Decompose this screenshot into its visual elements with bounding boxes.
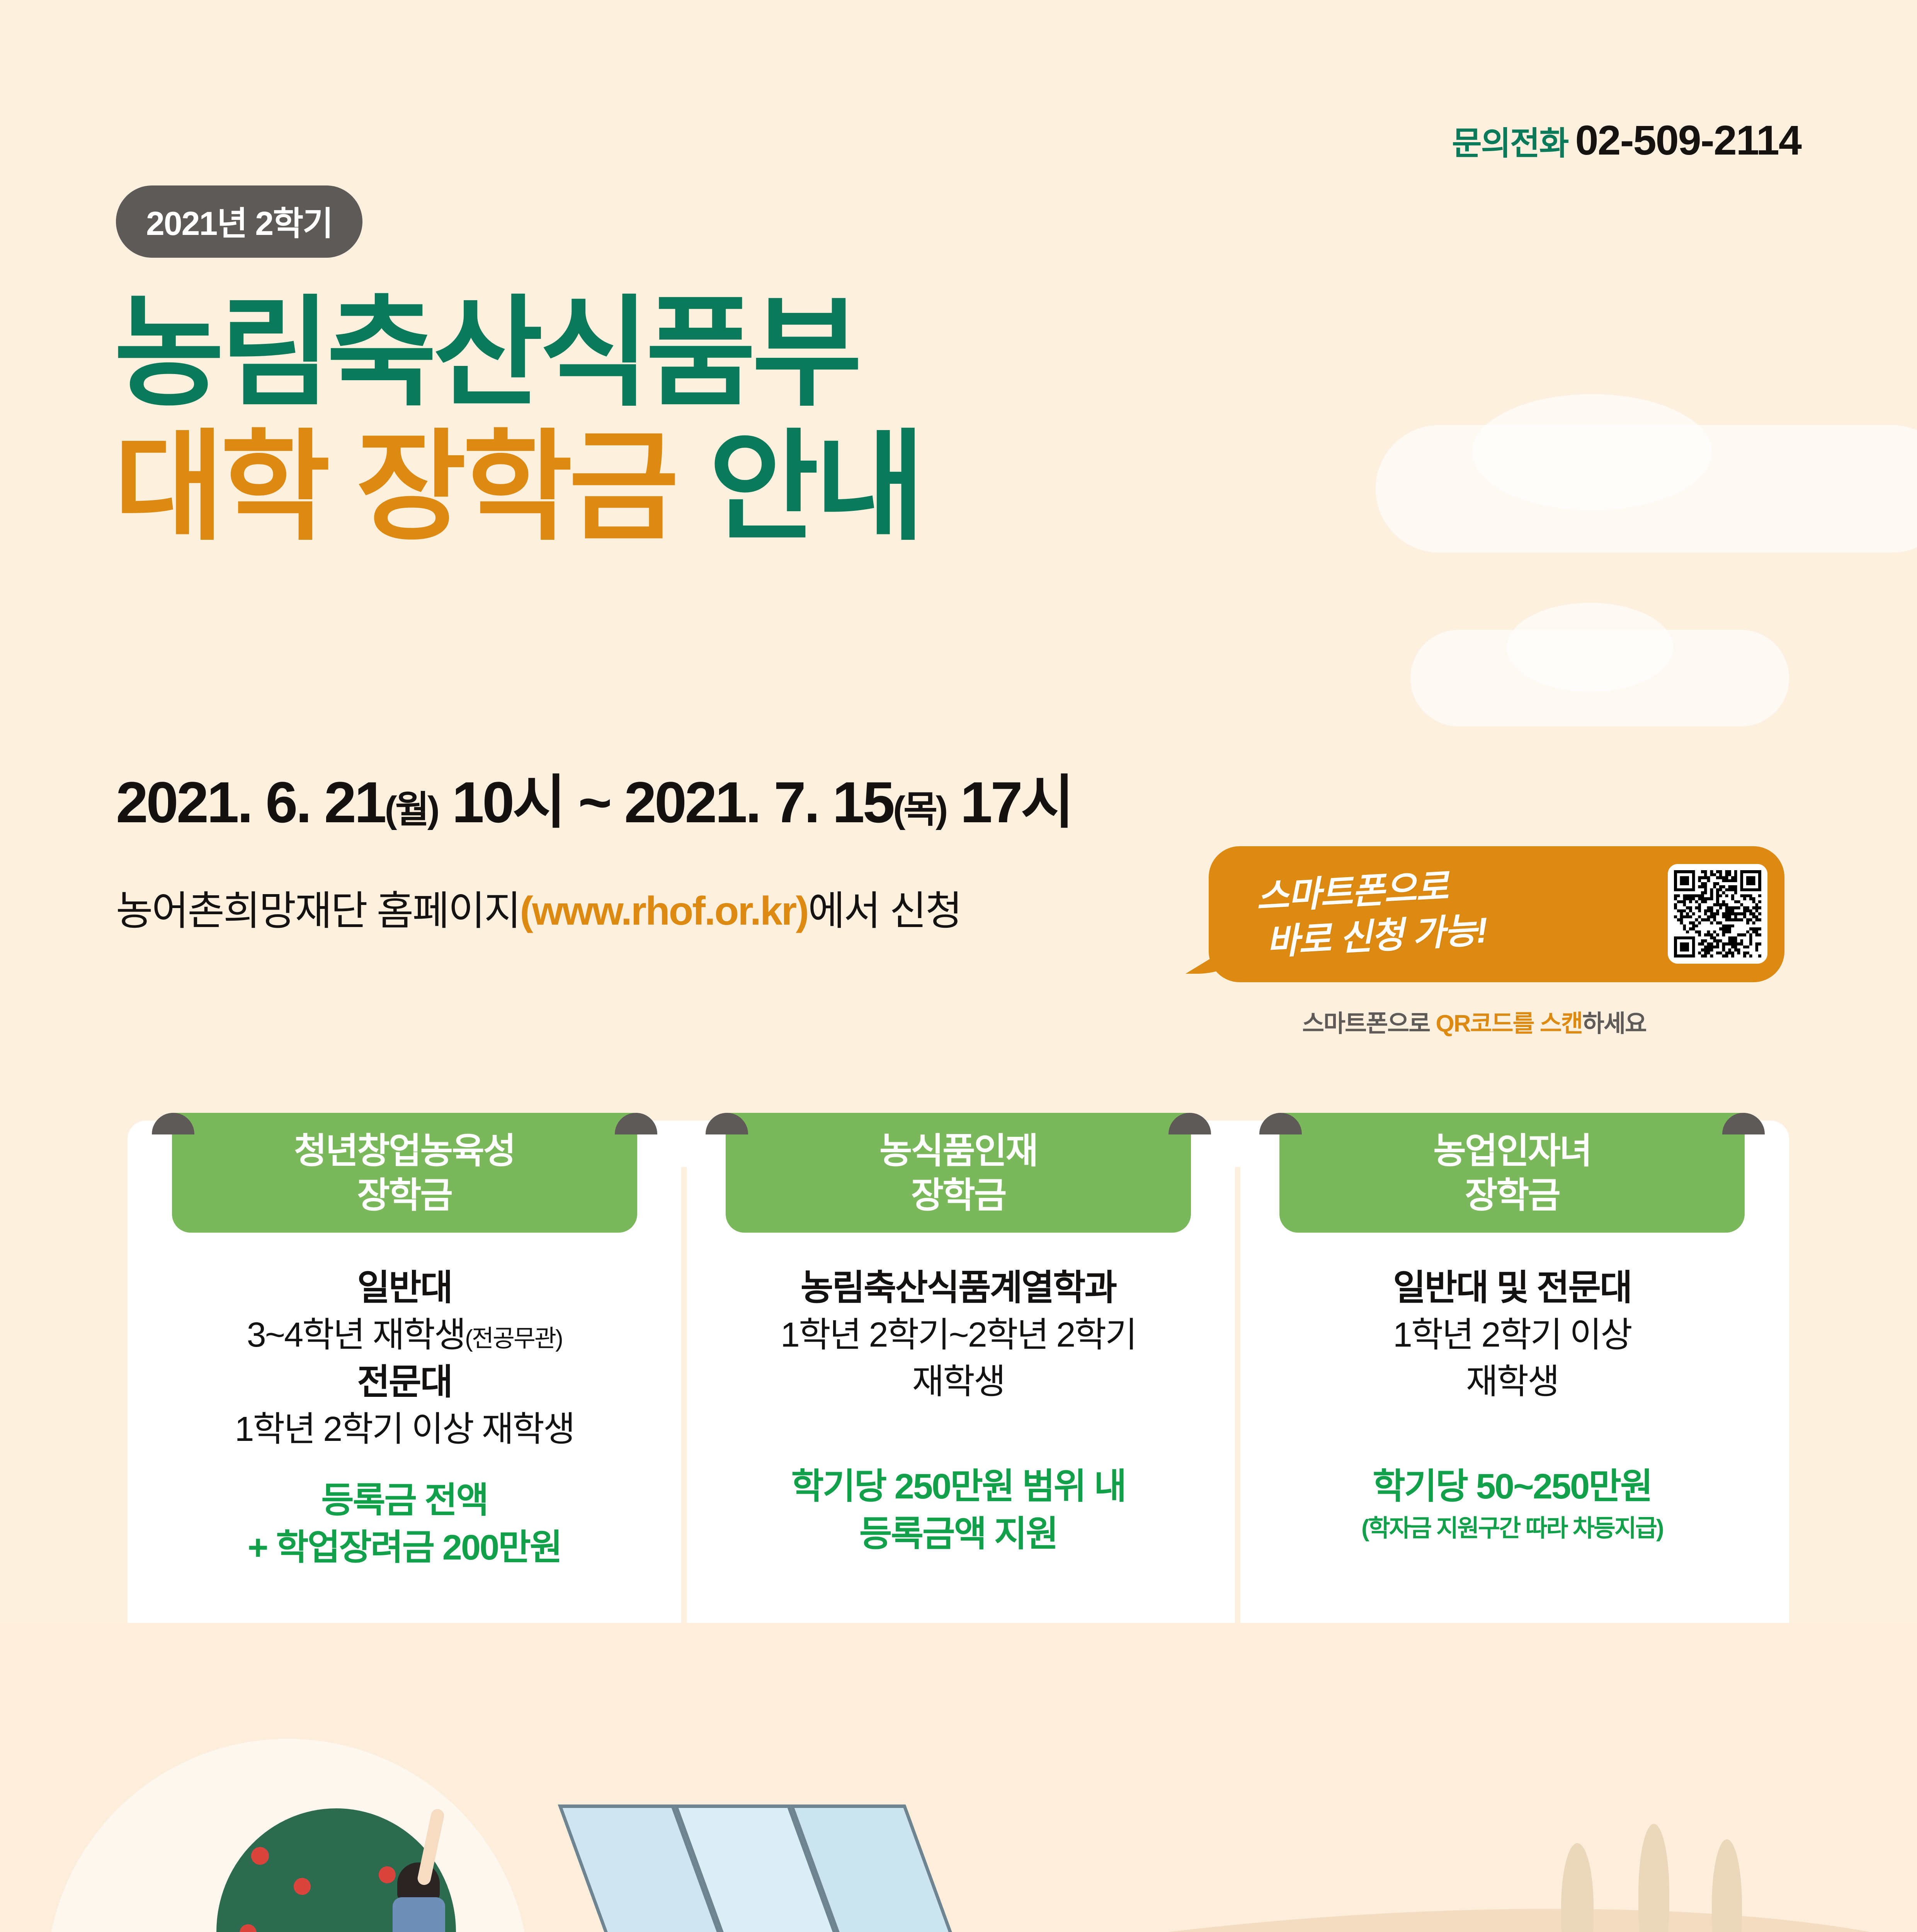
poster-root: 문의전화 02-509-2114 2021년 2학기 농림축산식품부 대학 장학…	[0, 0, 1917, 1932]
application-period: 2021. 6. 21(월) 10시 ~ 2021. 7. 15(목) 17시	[116, 755, 1072, 839]
card-body-2: 일반대 및 전문대 1학년 2학기 이상 재학생 학기당 50~250만원 (학…	[1235, 1233, 1789, 1544]
bubble-text: 스마트폰으로 바로 신청 가능!	[1255, 862, 1488, 966]
ribbon-tab-left-icon	[1259, 1113, 1302, 1134]
card-title-line1-0: 청년창업농육성	[176, 1129, 633, 1173]
card-header-1: 농식품인재 장학금	[726, 1113, 1191, 1233]
amount-line: 등록금 전액	[143, 1477, 666, 1524]
bubble-line-2: 바로 신청 가능!	[1265, 908, 1488, 965]
ribbon-tab-right-icon	[615, 1113, 657, 1134]
period-start-date: 2021. 6. 21	[116, 770, 385, 835]
apply-suffix: 에서 신청	[808, 889, 961, 934]
ribbon-tab-left-icon	[706, 1113, 748, 1134]
apply-url[interactable]: (www.rhof.or.kr)	[520, 889, 808, 934]
card-title-line2-2: 장학금	[1283, 1173, 1741, 1218]
amount-note: (학자금 지원구간 따라 차등지급)	[1251, 1513, 1774, 1544]
card-title-line1-1: 농식품인재	[730, 1129, 1187, 1173]
amount-line: 학기당 50~250만원	[1251, 1463, 1774, 1510]
qr-caption-highlight: QR코드를 스캔	[1436, 1010, 1582, 1037]
title-line-1: 농림축산식품부	[114, 286, 921, 420]
card-body-row: 전문대	[143, 1359, 666, 1406]
ribbon-tab-right-icon	[1722, 1113, 1765, 1134]
contact-number: 02-509-2114	[1575, 116, 1801, 164]
farmer-on-ladder	[379, 1862, 479, 1932]
card-header-2: 농업인자녀 장학금	[1279, 1113, 1745, 1233]
scholarship-card-1[interactable]: 농식품인재 장학금 농림축산식품계열학과 1학년 2학기~2학년 2학기 재학생…	[681, 1113, 1235, 1700]
card-body-row: 1학년 2학기 이상	[1251, 1312, 1774, 1359]
card-amount-2: 학기당 50~250만원 (학자금 지원구간 따라 차등지급)	[1251, 1463, 1774, 1544]
card-body-row: 농림축산식품계열학과	[697, 1264, 1220, 1312]
title-line-2-green: 안내	[709, 420, 921, 554]
card-body-row: 1학년 2학기~2학년 2학기	[697, 1312, 1220, 1359]
contact-label: 문의전화	[1452, 117, 1568, 164]
scholarship-columns: 청년창업농육성 장학금 일반대 3~4학년 재학생(전공무관) 전문대 1학년 …	[128, 1113, 1789, 1700]
bubble-line-1: 스마트폰으로	[1255, 867, 1449, 917]
card-body-row: 재학생	[1251, 1359, 1774, 1405]
apply-prefix: 농어촌희망재단 홈페이지	[116, 889, 520, 934]
period-end-date: 2021. 7. 15	[624, 770, 893, 835]
title-line-2: 대학 장학금안내	[114, 420, 921, 554]
cloud-decoration	[1507, 603, 1673, 692]
amount-line: 학기당 250만원 범위 내	[697, 1463, 1220, 1510]
page-title: 농림축산식품부 대학 장학금안내	[114, 286, 921, 554]
card-title-line1-2: 농업인자녀	[1283, 1129, 1741, 1173]
qr-code[interactable]	[1668, 864, 1767, 964]
qr-caption: 스마트폰으로 QR코드를 스캔하세요	[1302, 1004, 1646, 1039]
amount-line: + 학업장려금 200만원	[143, 1524, 666, 1571]
cloud-decoration	[1472, 394, 1712, 510]
card-body-subnote: (전공무관)	[465, 1325, 562, 1352]
card-body-row: 재학생	[697, 1359, 1220, 1405]
period-end-time: 17시	[946, 770, 1072, 835]
card-body-1: 농림축산식품계열학과 1학년 2학기~2학년 2학기 재학생 학기당 250만원…	[681, 1233, 1235, 1558]
card-body-row: 1학년 2학기 이상 재학생	[143, 1406, 666, 1453]
amount-line: 등록금액 지원	[697, 1510, 1220, 1558]
bubble-tail	[1186, 916, 1255, 974]
contact-phone: 문의전화 02-509-2114	[1452, 116, 1801, 164]
card-title-line2-1: 장학금	[730, 1173, 1187, 1218]
scholarship-card-0[interactable]: 청년창업농육성 장학금 일반대 3~4학년 재학생(전공무관) 전문대 1학년 …	[128, 1113, 681, 1700]
ribbon-tab-right-icon	[1169, 1113, 1211, 1134]
period-start-time: 10시 ~	[438, 770, 624, 835]
card-body-row: 일반대 및 전문대	[1251, 1264, 1774, 1312]
qr-caption-pre: 스마트폰으로	[1302, 1010, 1436, 1037]
semester-badge: 2021년 2학기	[116, 185, 362, 258]
card-amount-1: 학기당 250만원 범위 내 등록금액 지원	[697, 1463, 1220, 1558]
card-body-row: 3~4학년 재학생(전공무관)	[143, 1312, 666, 1359]
period-start-day: (월)	[385, 789, 438, 830]
card-header-0: 청년창업농육성 장학금	[172, 1113, 637, 1233]
card-amount-0: 등록금 전액 + 학업장려금 200만원	[143, 1477, 666, 1571]
qr-speech-bubble: 스마트폰으로 바로 신청 가능!	[1209, 846, 1784, 982]
card-body-text: 3~4학년 재학생	[247, 1316, 465, 1354]
card-body-row: 일반대	[143, 1264, 666, 1312]
card-title-line2-0: 장학금	[176, 1173, 633, 1218]
picker-overalls	[393, 1897, 445, 1932]
ribbon-tab-left-icon	[152, 1113, 194, 1134]
period-end-day: (목)	[893, 789, 946, 830]
application-site: 농어촌희망재단 홈페이지(www.rhof.or.kr)에서 신청	[116, 878, 961, 936]
scholarship-card-2[interactable]: 농업인자녀 장학금 일반대 및 전문대 1학년 2학기 이상 재학생 학기당 5…	[1235, 1113, 1789, 1700]
farm-illustration	[0, 1623, 1917, 1932]
apple-icon	[251, 1847, 269, 1865]
apple-icon	[294, 1878, 311, 1895]
card-body-0: 일반대 3~4학년 재학생(전공무관) 전문대 1학년 2학기 이상 재학생 등…	[128, 1233, 681, 1571]
qr-caption-post: 하세요	[1582, 1010, 1646, 1037]
title-line-2-orange: 대학 장학금	[114, 420, 675, 554]
greenhouse	[537, 1804, 978, 1932]
